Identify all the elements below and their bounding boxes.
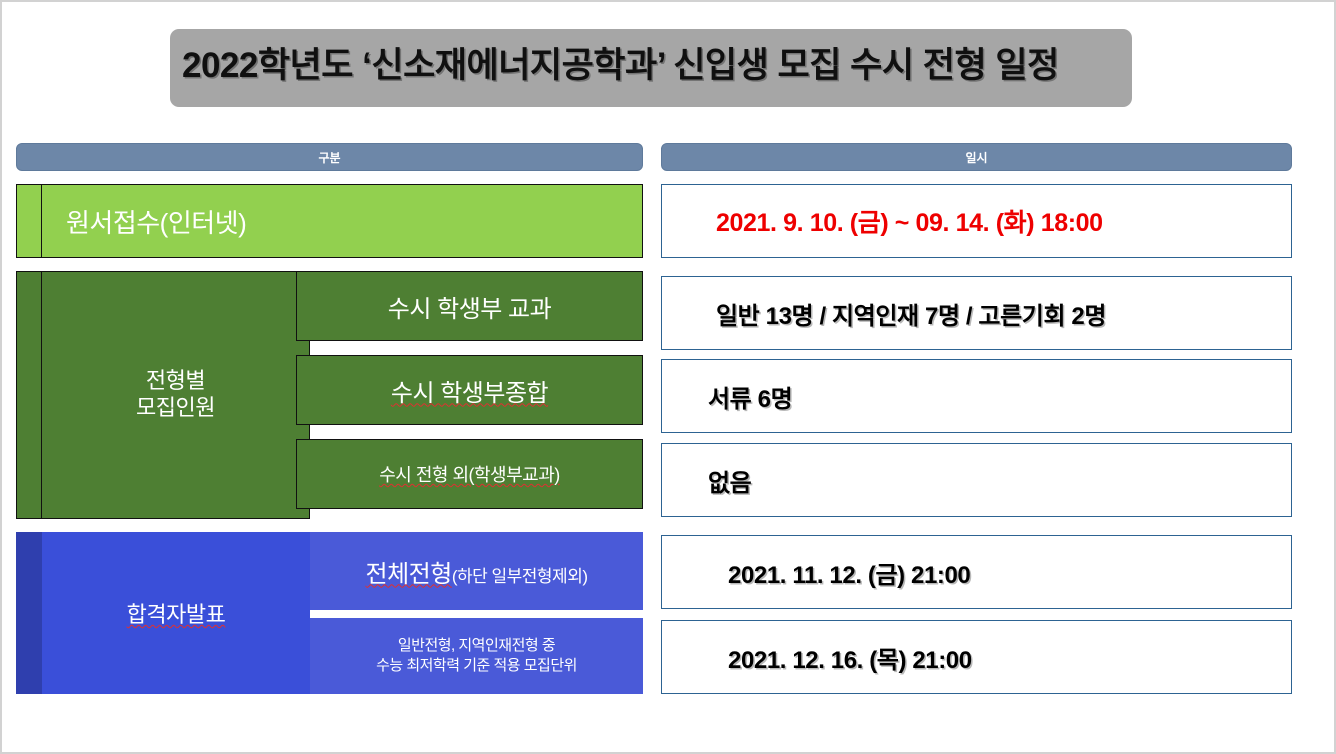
subrow-label-min-score-text: 일반전형, 지역인재전형 중 수능 최저학력 기준 적용 모집단위 — [376, 636, 577, 677]
subrow-value-all-types: 2021. 11. 12. (금) 21:00 — [662, 555, 970, 590]
row-application-accent-strip — [16, 184, 42, 258]
row-announcement-accent-strip — [16, 532, 42, 694]
subrow-value-min-score-box: 2021. 12. 16. (목) 21:00 — [661, 620, 1292, 694]
column-header-date: 일시 — [661, 143, 1292, 171]
subrow-value-all-types-box: 2021. 11. 12. (금) 21:00 — [661, 535, 1292, 609]
row-application-body: 원서접수(인터넷) — [41, 184, 643, 258]
row-announcement-label-cell: 합격자발표 — [42, 532, 310, 694]
subrow-value-susi-other: 없음 — [662, 463, 751, 498]
title-banner: 2022학년도 ‘신소재에너지공학과’ 신입생 모집 수시 전형 일정 — [170, 29, 1132, 107]
row-announcement-label: 합격자발표 — [127, 597, 226, 629]
subrow-label-all-types: 전체전형(하단 일부전형제외) — [310, 532, 643, 610]
subrow-value-susi-gyogwa: 일반 13명 / 지역인재 7명 / 고른기회 2명 — [662, 296, 1106, 331]
slide-canvas: 2022학년도 ‘신소재에너지공학과’ 신입생 모집 수시 전형 일정 구분 일… — [0, 0, 1336, 754]
row-quota-category: 전형별 모집인원 수시 학생부 교과 수시 학생부종합 수시 전형 외(학생부교… — [16, 271, 643, 519]
column-header-category-label: 구분 — [318, 149, 340, 166]
subrow-label-susi-jonghap: 수시 학생부종합 — [296, 355, 643, 425]
row-quota-label: 전형별 모집인원 — [136, 368, 215, 422]
row-quota-label-cell: 전형별 모집인원 — [41, 271, 310, 519]
subrow-label-susi-gyogwa: 수시 학생부 교과 — [296, 271, 643, 341]
subrow-label-all-types-main: 전체전형 — [366, 561, 452, 588]
row-announcement-category: 합격자발표 전체전형(하단 일부전형제외) 일반전형, 지역인재전형 중 수능 … — [16, 532, 643, 694]
subrow-value-susi-jonghap-box: 서류 6명 — [661, 359, 1292, 433]
subrow-label-susi-other: 수시 전형 외(학생부교과) — [296, 439, 643, 509]
row-application-label: 원서접수(인터넷) — [66, 203, 246, 240]
subrow-value-susi-gyogwa-box: 일반 13명 / 지역인재 7명 / 고른기회 2명 — [661, 276, 1292, 350]
subrow-label-susi-other-text: 수시 전형 외(학생부교과) — [379, 461, 560, 487]
row-application-value-box: 2021. 9. 10. (금) ~ 09. 14. (화) 18:00 — [661, 184, 1292, 258]
subrow-value-min-score: 2021. 12. 16. (목) 21:00 — [662, 640, 972, 675]
subrow-label-susi-gyogwa-text: 수시 학생부 교과 — [388, 289, 551, 324]
subrow-label-min-score: 일반전형, 지역인재전형 중 수능 최저학력 기준 적용 모집단위 — [310, 618, 643, 694]
subrow-label-susi-jonghap-text: 수시 학생부종합 — [391, 373, 548, 408]
subrow-value-susi-jonghap: 서류 6명 — [662, 379, 792, 414]
page-title: 2022학년도 ‘신소재에너지공학과’ 신입생 모집 수시 전형 일정 — [182, 37, 1122, 88]
subrow-label-all-types-suffix: (하단 일부전형제외) — [452, 567, 588, 586]
column-header-category: 구분 — [16, 143, 643, 171]
row-application-value: 2021. 9. 10. (금) ~ 09. 14. (화) 18:00 — [662, 203, 1103, 239]
subrow-value-susi-other-box: 없음 — [661, 443, 1292, 517]
row-quota-accent-strip — [16, 271, 42, 519]
row-application-category: 원서접수(인터넷) — [16, 184, 643, 258]
column-header-date-label: 일시 — [965, 149, 987, 166]
